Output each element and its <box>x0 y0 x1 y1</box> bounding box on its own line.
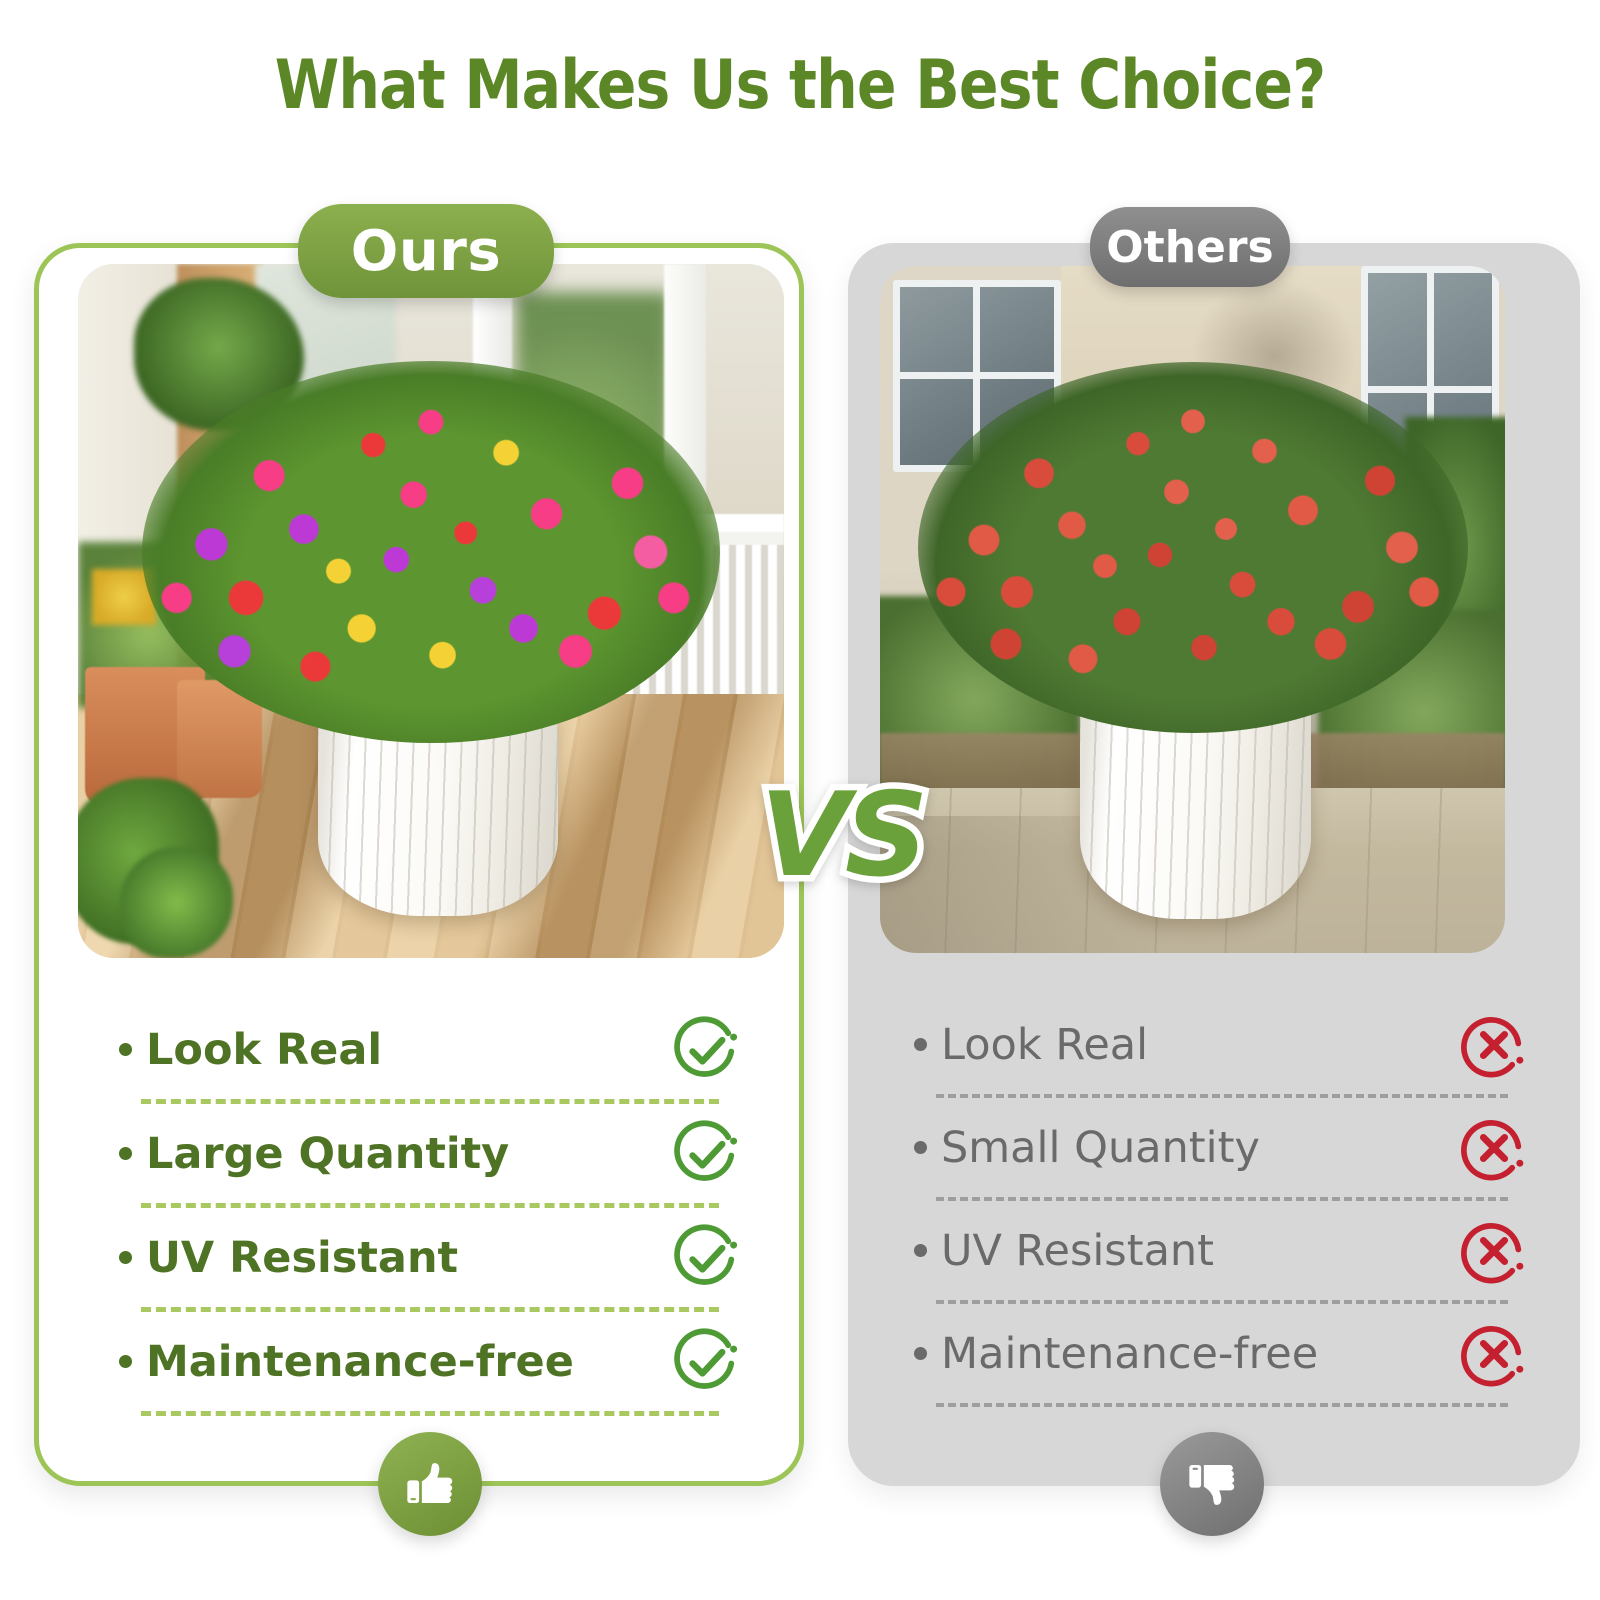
bullet-icon <box>119 1251 132 1264</box>
feature-label: Look Real <box>941 1020 1456 1070</box>
feature-row: Large Quantity <box>39 1104 799 1203</box>
bullet-icon <box>914 1244 927 1257</box>
feature-row: Small Quantity <box>848 1098 1580 1197</box>
multicolor-flower-bush <box>142 361 721 743</box>
feature-label: Small Quantity <box>941 1123 1456 1173</box>
feature-label: UV Resistant <box>941 1226 1456 1276</box>
badge-ours: Ours <box>298 204 554 298</box>
badge-others-label: Others <box>1106 222 1274 273</box>
feature-row: Maintenance-free <box>39 1312 799 1411</box>
bullet-icon <box>914 1141 927 1154</box>
x-circle-icon <box>1456 1007 1532 1083</box>
feature-label: Maintenance-free <box>941 1329 1456 1379</box>
others-feature-list: Look Real Small Quantity <box>848 995 1580 1407</box>
others-product-photo <box>880 266 1505 953</box>
comparison-card-ours: Look Real Large Quantity <box>34 243 804 1486</box>
feature-row: UV Resistant <box>848 1201 1580 1300</box>
x-circle-icon <box>1456 1110 1532 1186</box>
bullet-icon <box>119 1147 132 1160</box>
check-circle-icon <box>669 1116 745 1192</box>
check-circle-icon <box>669 1012 745 1088</box>
bullet-icon <box>914 1038 927 1051</box>
feature-row: Look Real <box>39 1000 799 1099</box>
ours-feature-list: Look Real Large Quantity <box>39 1000 799 1416</box>
red-flower-bush <box>918 362 1468 733</box>
feature-row: Look Real <box>848 995 1580 1094</box>
bullet-icon <box>914 1347 927 1360</box>
feature-row: UV Resistant <box>39 1208 799 1307</box>
page-title: What Makes Us the Best Choice? <box>112 46 1488 125</box>
check-circle-icon <box>669 1220 745 1296</box>
feature-label: Maintenance-free <box>146 1337 669 1387</box>
feature-label: UV Resistant <box>146 1233 669 1283</box>
feature-label: Look Real <box>146 1025 669 1075</box>
feature-row: Maintenance-free <box>848 1304 1580 1403</box>
bullet-icon <box>119 1043 132 1056</box>
ours-product-photo <box>78 264 784 958</box>
x-circle-icon <box>1456 1316 1532 1392</box>
x-circle-icon <box>1456 1213 1532 1289</box>
foreground-leaf-2 <box>120 847 233 958</box>
check-circle-icon <box>669 1324 745 1400</box>
badge-others: Others <box>1090 207 1290 287</box>
vs-badge: VS <box>760 768 923 903</box>
feature-label: Large Quantity <box>146 1129 669 1179</box>
row-divider <box>936 1403 1508 1407</box>
thumbs-down-icon <box>1160 1432 1264 1536</box>
badge-ours-label: Ours <box>351 219 501 284</box>
comparison-card-others: Look Real Small Quantity <box>848 243 1580 1486</box>
bullet-icon <box>119 1355 132 1368</box>
row-divider <box>141 1411 719 1416</box>
thumbs-up-icon <box>378 1432 482 1536</box>
